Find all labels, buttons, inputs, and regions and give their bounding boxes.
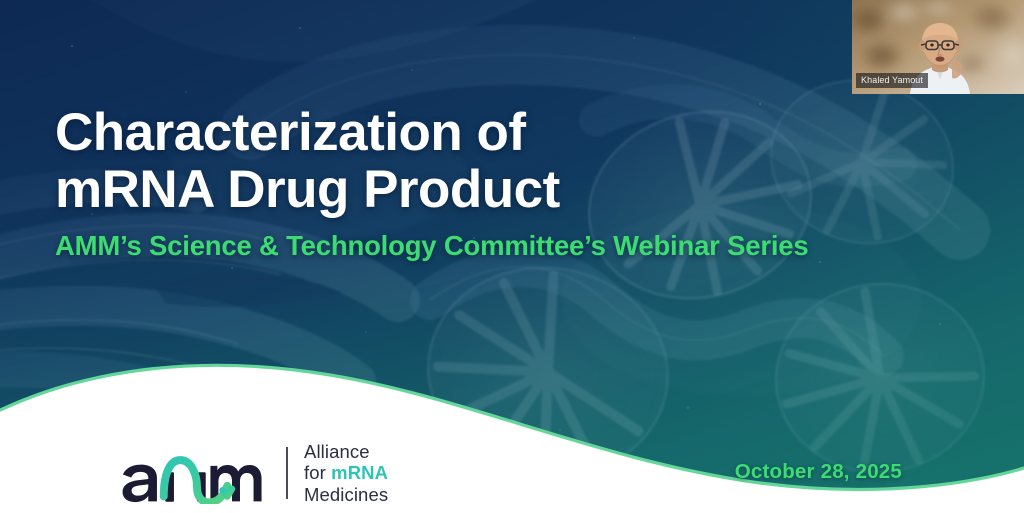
logo-line-alliance: Alliance xyxy=(304,441,388,463)
amm-logo-mark-icon xyxy=(118,442,270,504)
page-title-line-1: Characterization of xyxy=(55,104,985,161)
logo-line-medicines: Medicines xyxy=(304,484,388,506)
logo-for-text: for xyxy=(304,462,331,483)
presentation-slide: Characterization of mRNA Drug Product AM… xyxy=(0,0,1024,513)
amm-logo-wordmark: Alliance for mRNA Medicines xyxy=(304,441,388,506)
logo-mrna-text: mRNA xyxy=(331,462,388,483)
logo-line-for-mrna: for mRNA xyxy=(304,462,388,484)
webcam-video-tile[interactable]: Khaled Yamout xyxy=(852,0,1024,94)
webcam-participant-name: Khaled Yamout xyxy=(856,73,928,88)
logo-divider xyxy=(286,447,288,499)
amm-logo: Alliance for mRNA Medicines xyxy=(118,441,388,506)
title-block: Characterization of mRNA Drug Product AM… xyxy=(55,104,985,262)
page-title-line-2: mRNA Drug Product xyxy=(55,161,985,218)
presentation-date: October 28, 2025 xyxy=(735,460,902,484)
page-subtitle: AMM’s Science & Technology Committee’s W… xyxy=(55,230,985,262)
